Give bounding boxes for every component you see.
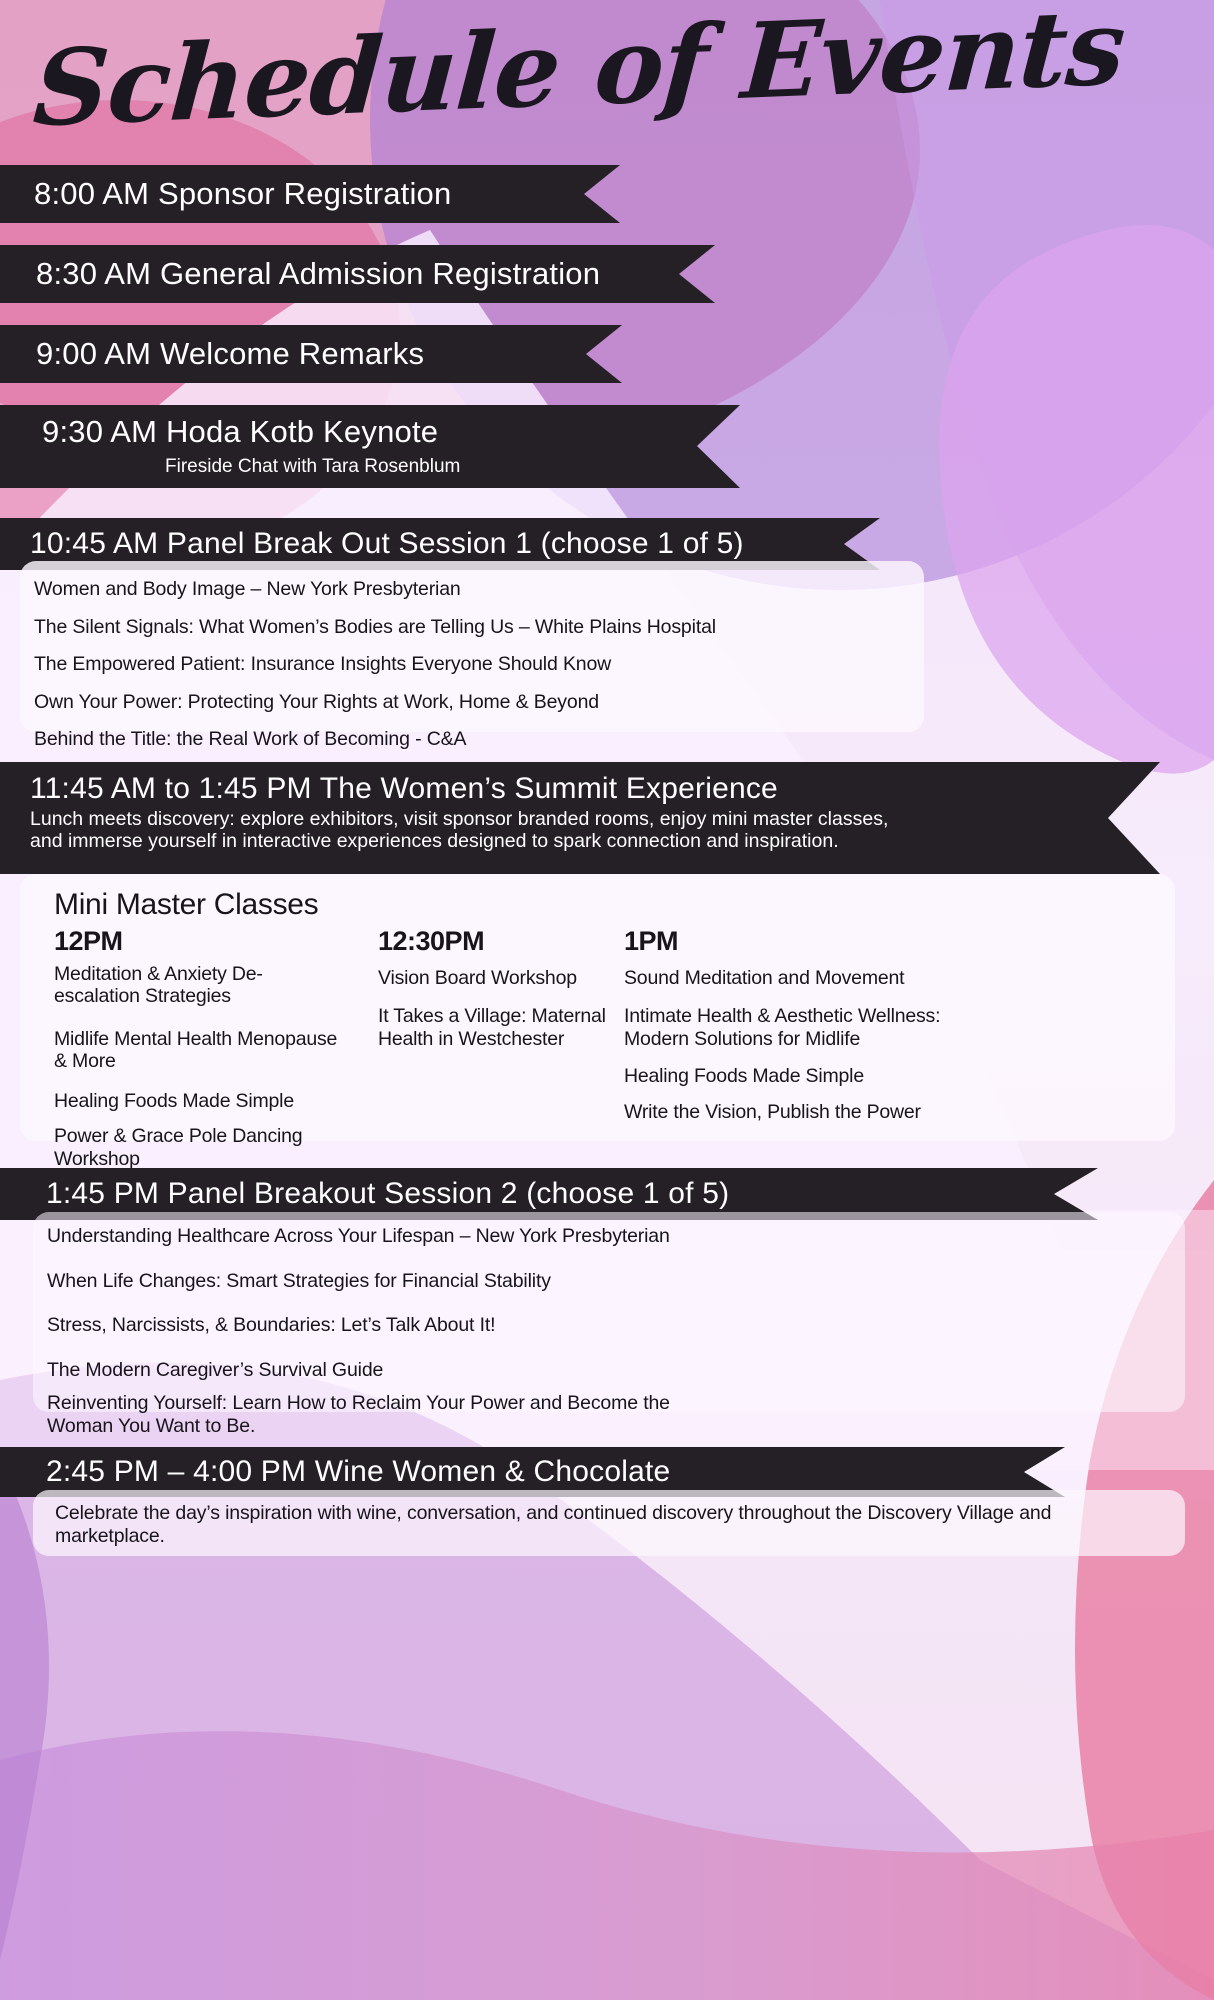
list-item: The Empowered Patient: Insurance Insight… xyxy=(34,653,924,676)
list-item: Reinventing Yourself: Learn How to Recla… xyxy=(47,1392,707,1437)
ribbon-welcome-remarks: 9:00 AM Welcome Remarks xyxy=(0,325,622,383)
mmc-time-label: 12PM xyxy=(54,926,344,957)
list-item: When Life Changes: Smart Strategies for … xyxy=(47,1270,1185,1293)
mmc-column-1pm: 1PM Sound Meditation and Movement Intima… xyxy=(624,926,944,1137)
ribbon-subtitle-summit-experience: Lunch meets discovery: explore exhibitor… xyxy=(0,809,1160,853)
mmc-column-12pm: 12PM Meditation & Anxiety De-escalation … xyxy=(54,926,344,1184)
list-item: The Silent Signals: What Women’s Bodies … xyxy=(34,616,924,639)
mmc-item: Midlife Mental Health Menopause & More xyxy=(54,1028,344,1073)
ribbon-title-welcome-remarks: 9:00 AM Welcome Remarks xyxy=(0,336,622,372)
mmc-item: Intimate Health & Aesthetic Wellness: Mo… xyxy=(624,1005,944,1050)
mmc-item: It Takes a Village: Maternal Health in W… xyxy=(378,1005,623,1050)
list-item: Women and Body Image – New York Presbyte… xyxy=(34,578,924,601)
mmc-item: Meditation & Anxiety De-escalation Strat… xyxy=(54,963,344,1008)
closing-text: Celebrate the day’s inspiration with win… xyxy=(55,1502,1161,1548)
card-panel-session-1: Women and Body Image – New York Presbyte… xyxy=(20,561,924,732)
mmc-item: Healing Foods Made Simple xyxy=(54,1090,344,1112)
mmc-item: Healing Foods Made Simple xyxy=(624,1065,944,1087)
schedule-poster: Schedule of Events 8:00 AM Sponsor Regis… xyxy=(0,0,1214,2000)
list-item: Understanding Healthcare Across Your Lif… xyxy=(47,1225,1185,1248)
mmc-column-1230pm: 12:30PM Vision Board Workshop It Takes a… xyxy=(378,926,623,1064)
list-item: The Modern Caregiver’s Survival Guide xyxy=(47,1359,1185,1382)
mmc-time-label: 1PM xyxy=(624,926,944,957)
mmc-item: Sound Meditation and Movement xyxy=(624,967,944,989)
page-title: Schedule of Events xyxy=(30,0,938,154)
ribbon-general-admission: 8:30 AM General Admission Registration xyxy=(0,245,715,303)
card-closing-note: Celebrate the day’s inspiration with win… xyxy=(33,1490,1185,1556)
card-panel-session-2: Understanding Healthcare Across Your Lif… xyxy=(33,1212,1185,1412)
ribbon-summit-experience: 11:45 AM to 1:45 PM The Women’s Summit E… xyxy=(0,762,1160,874)
ribbon-subtitle-keynote: Fireside Chat with Tara Rosenblum xyxy=(0,456,740,478)
ribbon-sponsor-registration: 8:00 AM Sponsor Registration xyxy=(0,165,620,223)
list-item: Own Your Power: Protecting Your Rights a… xyxy=(34,691,924,714)
card-mini-master-classes: Mini Master Classes 12PM Meditation & An… xyxy=(20,874,1175,1141)
ribbon-title-panel-session-2: 1:45 PM Panel Breakout Session 2 (choose… xyxy=(0,1177,1098,1211)
ribbon-title-wine-women-chocolate: 2:45 PM – 4:00 PM Wine Women & Chocolate xyxy=(0,1455,1065,1489)
ribbon-title-sponsor-registration: 8:00 AM Sponsor Registration xyxy=(0,176,620,212)
mmc-time-label: 12:30PM xyxy=(378,926,623,957)
ribbon-title-keynote: 9:30 AM Hoda Kotb Keynote xyxy=(0,414,740,450)
ribbon-title-panel-session-1: 10:45 AM Panel Break Out Session 1 (choo… xyxy=(0,527,880,561)
mini-master-classes-heading: Mini Master Classes xyxy=(20,888,1175,922)
mmc-item: Power & Grace Pole Dancing Workshop xyxy=(54,1125,344,1170)
mmc-item: Write the Vision, Publish the Power xyxy=(624,1101,944,1123)
ribbon-title-general-admission: 8:30 AM General Admission Registration xyxy=(0,256,715,292)
ribbon-title-summit-experience: 11:45 AM to 1:45 PM The Women’s Summit E… xyxy=(0,772,1160,806)
list-item: Stress, Narcissists, & Boundaries: Let’s… xyxy=(47,1314,1185,1337)
mmc-item: Vision Board Workshop xyxy=(378,967,623,989)
list-item: Behind the Title: the Real Work of Becom… xyxy=(34,728,924,751)
ribbon-keynote: 9:30 AM Hoda Kotb Keynote Fireside Chat … xyxy=(0,405,740,488)
